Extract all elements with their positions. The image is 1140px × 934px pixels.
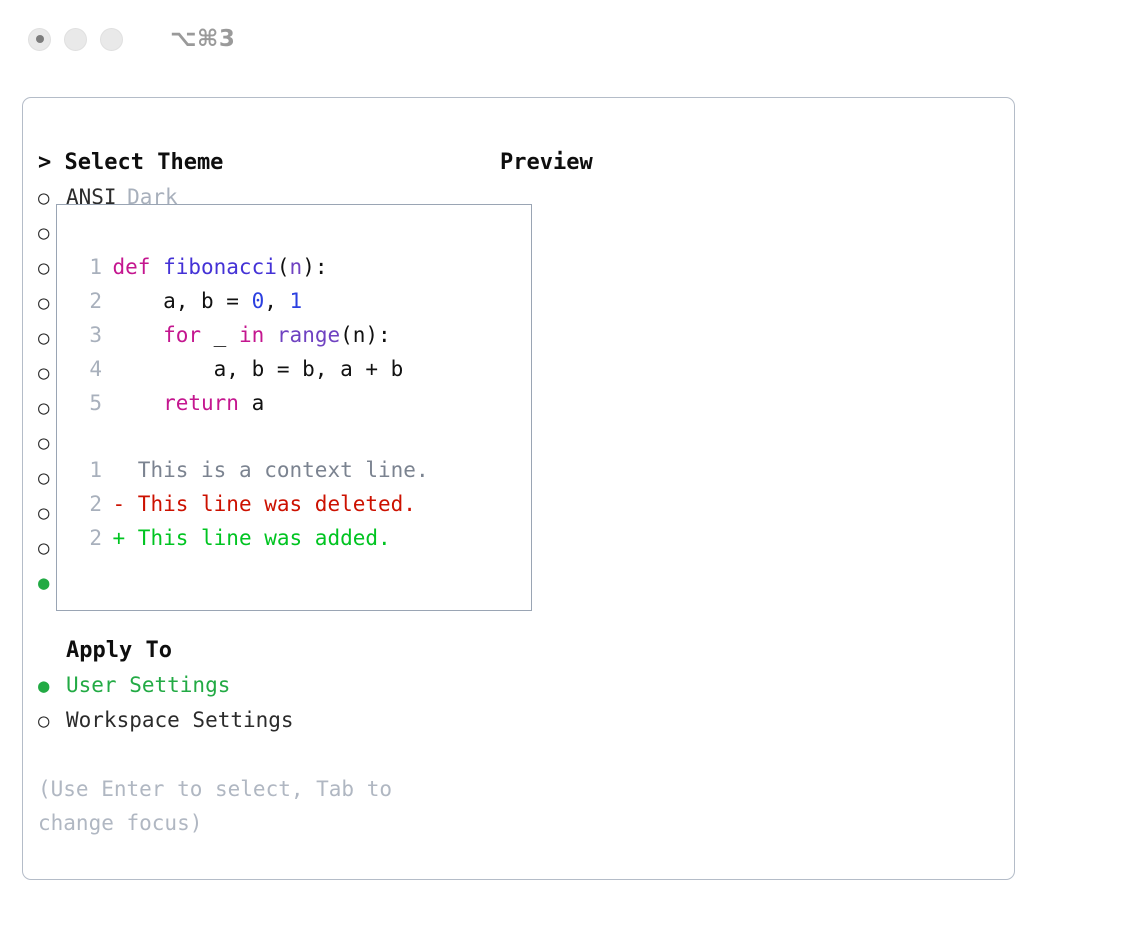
code-line-text: for _ in range(n): (102, 318, 391, 352)
code-token-pln: _ (201, 323, 239, 347)
diff-line-number: 2 (73, 521, 102, 555)
code-token-pln: (n): (340, 323, 391, 347)
diff-line: 1 This is a context line. (73, 453, 429, 487)
code-token-pln: a (239, 391, 264, 415)
code-token-num: 1 (290, 289, 303, 313)
code-line-text: a, b = 0, 1 (102, 284, 302, 318)
diff-marker (113, 458, 126, 482)
code-token-pln (113, 323, 164, 347)
record-button[interactable] (28, 28, 51, 51)
preview-heading: Preview (500, 146, 1000, 180)
radio-unselected-icon: ○ (38, 704, 66, 738)
diff-line: 2- This line was deleted. (73, 487, 429, 521)
code-token-pln: a, b = b, a + b (113, 357, 404, 381)
radio-selected-icon: ● (38, 669, 66, 703)
code-token-kw: return (163, 391, 239, 415)
code-token-pln (113, 391, 164, 415)
code-token-par: n (290, 255, 303, 279)
line-number: 5 (73, 386, 102, 420)
diff-preview: 1 This is a context line.2- This line wa… (73, 453, 429, 555)
code-token-kw: def (113, 255, 164, 279)
code-line-text: a, b = b, a + b (102, 352, 403, 386)
diff-line-text: This line was deleted. (125, 492, 416, 516)
code-token-kw: for (163, 323, 201, 347)
preview-box: 1def fibonacci(n):2 a, b = 0, 13 for _ i… (56, 204, 532, 611)
apply-option-label: Workspace Settings (66, 703, 294, 737)
keyboard-hint-text: (Use Enter to select, Tab to change focu… (38, 772, 438, 840)
apply-to-options: ●User Settings○Workspace Settings (38, 668, 508, 738)
code-token-pln: a, b = (113, 289, 252, 313)
diff-line-text: This line was added. (125, 526, 391, 550)
code-token-kw: in (239, 323, 264, 347)
minimize-button[interactable] (64, 28, 87, 51)
line-number: 4 (73, 352, 102, 386)
maximize-button[interactable] (100, 28, 123, 51)
code-token-pln: ( (277, 255, 290, 279)
main-panel: > Select Theme ○ANSIDark○Atom OneDark○Ay… (22, 97, 1015, 880)
line-number: 1 (73, 250, 102, 284)
keyboard-shortcut-label: ⌥⌘3 (170, 26, 235, 52)
code-token-par: range (277, 323, 340, 347)
preview-column: Preview (500, 146, 1000, 180)
code-line-text: return a (102, 386, 264, 420)
apply-to-heading: Apply To (38, 634, 508, 668)
diff-line-number: 2 (73, 487, 102, 521)
code-line: 1def fibonacci(n): (73, 250, 403, 284)
code-token-pln: , (264, 289, 289, 313)
line-number: 3 (73, 318, 102, 352)
diff-line-content: - This line was deleted. (102, 487, 416, 521)
window-controls (28, 28, 123, 51)
code-token-pln (264, 323, 277, 347)
code-line: 5 return a (73, 386, 403, 420)
apply-option-workspace-settings[interactable]: ○Workspace Settings (38, 703, 508, 738)
code-token-fn: fibonacci (163, 255, 277, 279)
diff-line-text: This is a context line. (125, 458, 428, 482)
code-token-pln: ): (302, 255, 327, 279)
record-dot-icon (36, 35, 44, 43)
code-line: 4 a, b = b, a + b (73, 352, 403, 386)
app-window: ⌥⌘3 > Select Theme ○ANSIDark○Atom OneDar… (0, 0, 1140, 934)
code-preview: 1def fibonacci(n):2 a, b = 0, 13 for _ i… (73, 250, 403, 420)
code-line-text: def fibonacci(n): (102, 250, 327, 284)
diff-line-content: + This line was added. (102, 521, 391, 555)
apply-option-label: User Settings (66, 668, 230, 702)
code-line: 2 a, b = 0, 1 (73, 284, 403, 318)
apply-option-user-settings[interactable]: ●User Settings (38, 668, 508, 703)
title-bar: ⌥⌘3 (0, 0, 1140, 78)
diff-line-number: 1 (73, 453, 102, 487)
diff-marker: - (113, 492, 126, 516)
apply-to-section: Apply To ●User Settings○Workspace Settin… (38, 634, 508, 738)
code-line: 3 for _ in range(n): (73, 318, 403, 352)
diff-line: 2+ This line was added. (73, 521, 429, 555)
diff-line-content: This is a context line. (102, 453, 429, 487)
select-theme-heading: > Select Theme (38, 146, 508, 180)
line-number: 2 (73, 284, 102, 318)
code-token-num: 0 (252, 289, 265, 313)
diff-marker: + (113, 526, 126, 550)
